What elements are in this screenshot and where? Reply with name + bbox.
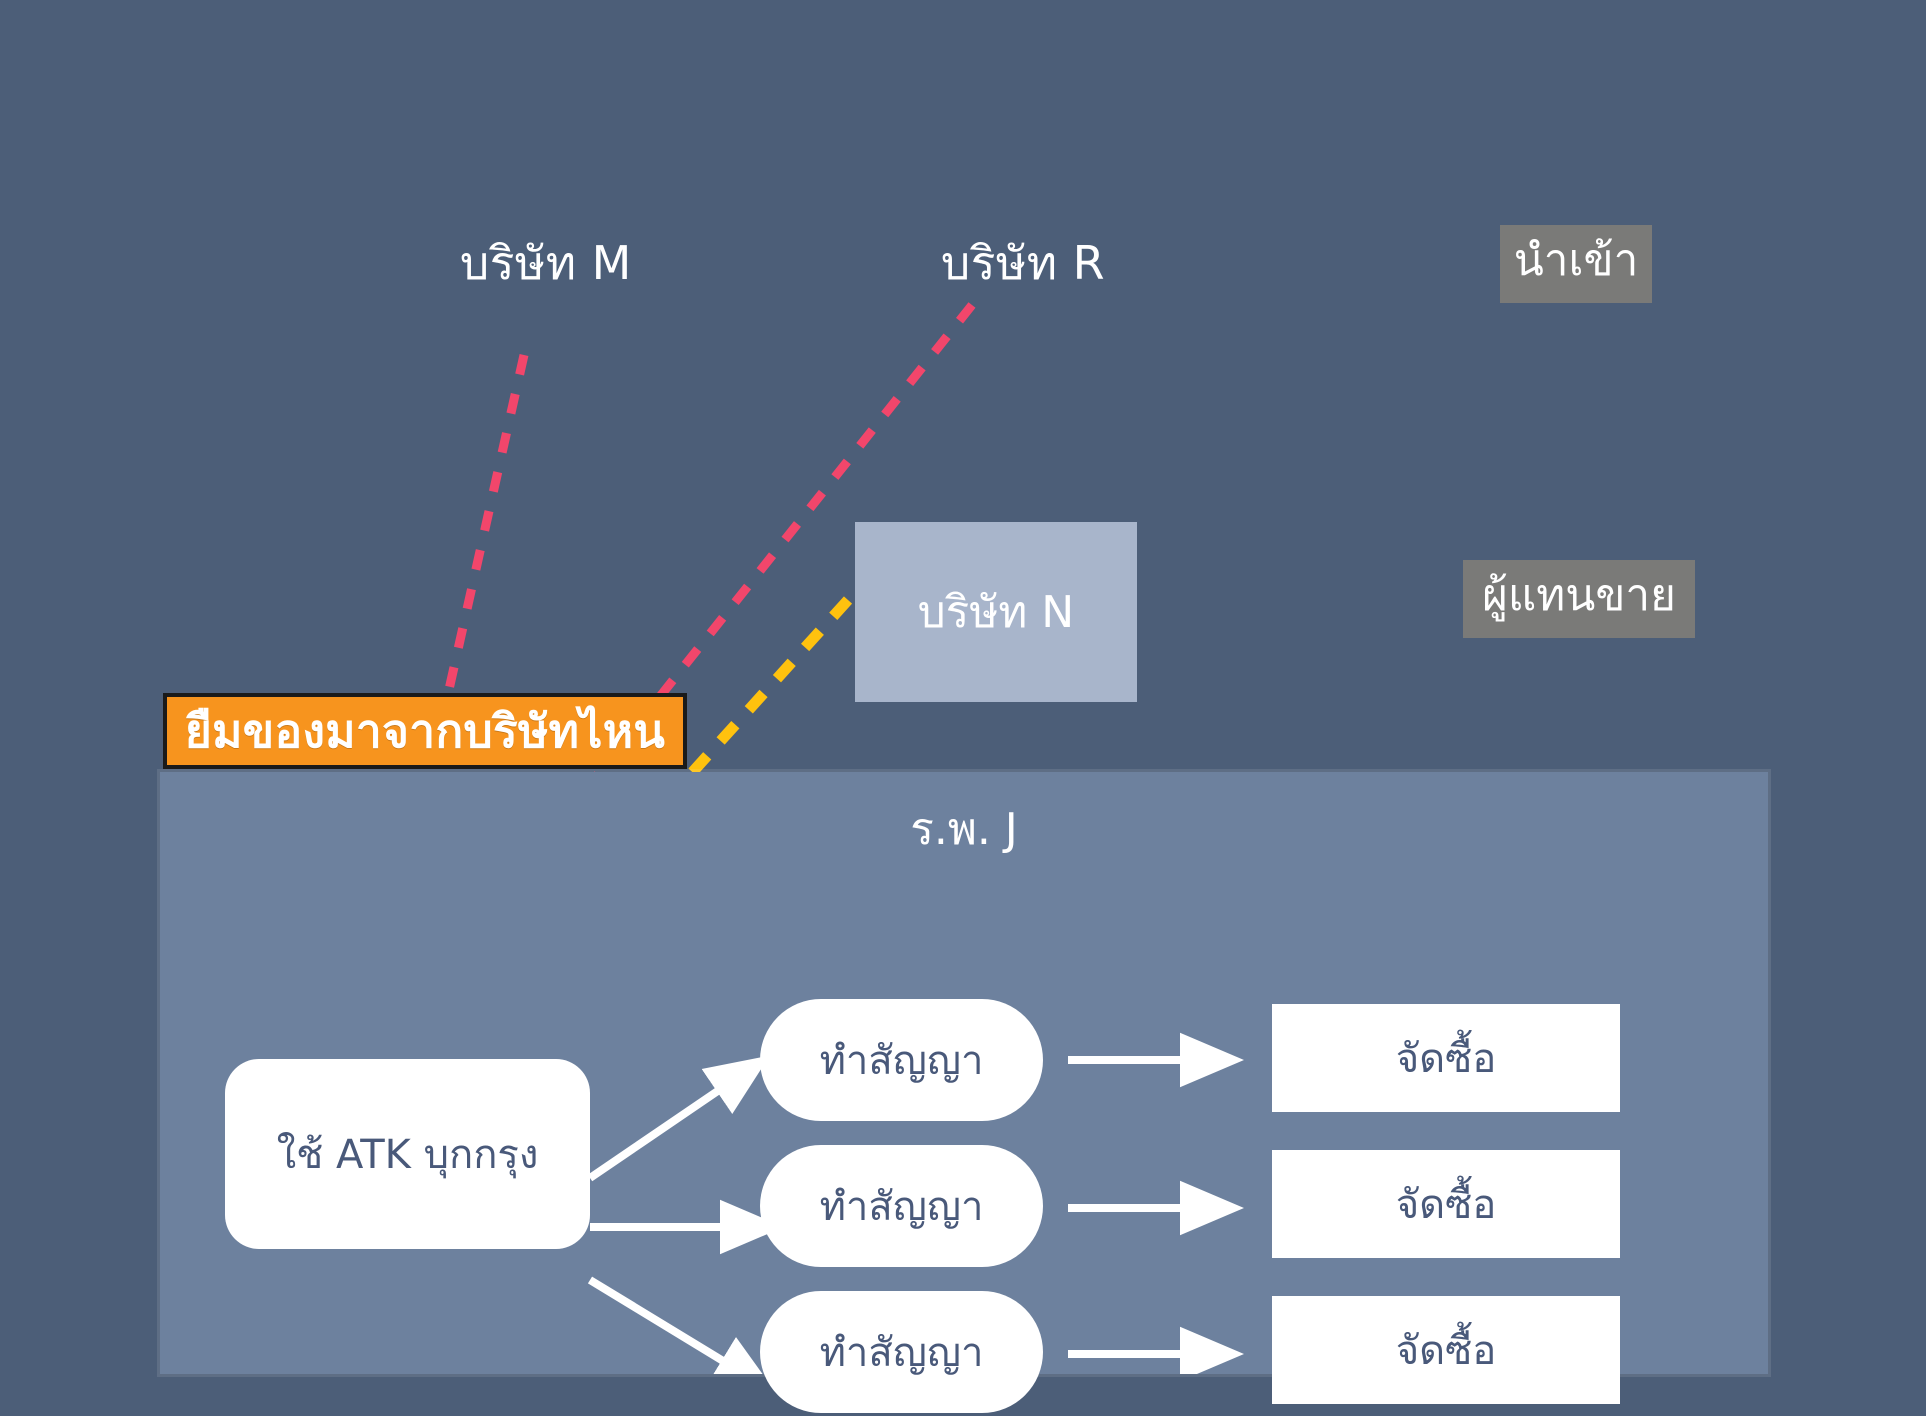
node-contract-1[interactable]: ทำสัญญา	[760, 999, 1043, 1121]
node-contract-3[interactable]: ทำสัญญา	[760, 1291, 1043, 1413]
callout-borrowed-from-which-company[interactable]: ยืมของมาจากบริษัทไหน	[163, 693, 687, 769]
arrow-origin-to-contract-1	[590, 1069, 750, 1178]
node-purchase-1[interactable]: จัดซื้อ	[1272, 1004, 1620, 1112]
hospital-title: ร.พ. J	[160, 794, 1768, 864]
label-company-m: บริษัท M	[460, 238, 632, 289]
node-purchase-3[interactable]: จัดซื้อ	[1272, 1296, 1620, 1404]
badge-sales-rep: ผู้แทนขาย	[1463, 560, 1695, 638]
hospital-panel: ร.พ. J	[160, 772, 1768, 1374]
badge-import: นำเข้า	[1500, 225, 1652, 303]
node-origin[interactable]: ใช้ ATK บุกกรุง	[225, 1059, 590, 1249]
label-company-r: บริษัท R	[941, 238, 1105, 289]
node-purchase-2[interactable]: จัดซื้อ	[1272, 1150, 1620, 1258]
box-company-n: บริษัท N	[855, 522, 1137, 702]
node-contract-2[interactable]: ทำสัญญา	[760, 1145, 1043, 1267]
arrow-origin-to-contract-3	[590, 1280, 756, 1374]
slide-canvas: บริษัท M บริษัท R นำเข้า ผู้แทนขาย บริษั…	[0, 0, 1926, 1416]
